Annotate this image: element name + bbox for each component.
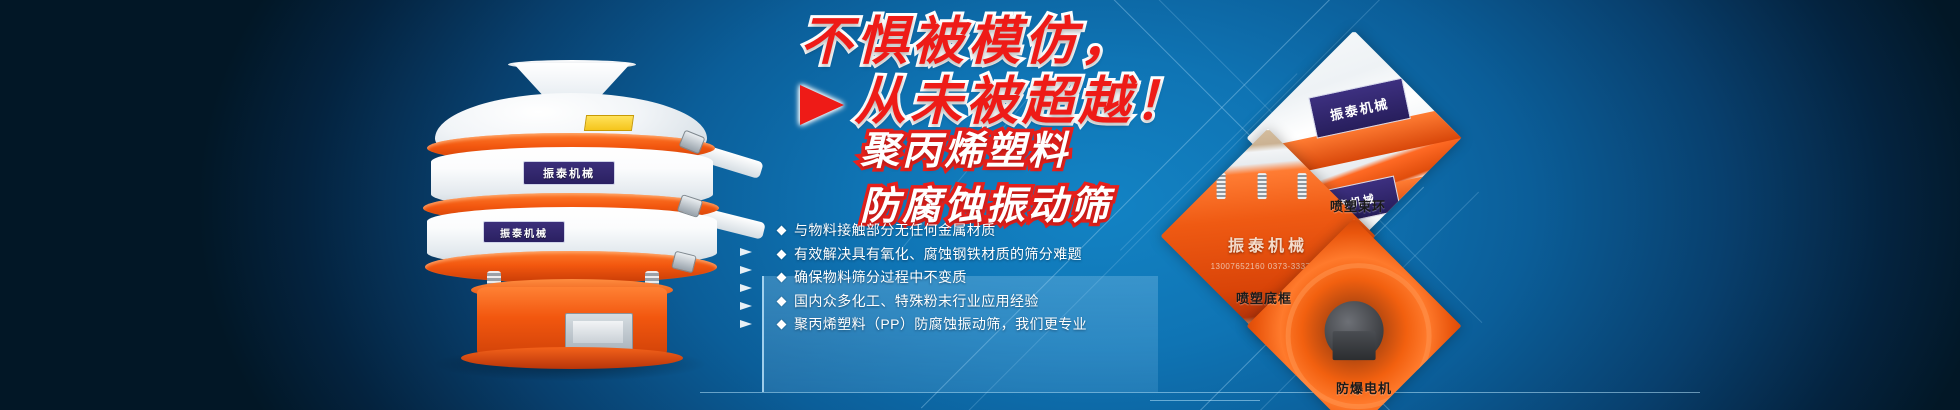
junction-box (1333, 330, 1376, 360)
diamond-bullet-icon (777, 249, 787, 259)
headline-row-1: 不惧被模仿， (800, 14, 1500, 70)
diamond-bullet-icon (777, 226, 787, 236)
feature-label: 国内众多化工、特殊粉末行业应用经验 (794, 293, 1039, 311)
feature-label: 有效解决具有氧化、腐蚀钢铁材质的筛分难题 (794, 246, 1082, 264)
decor-hline-left (1150, 400, 1260, 401)
spring-icon (1298, 172, 1307, 198)
subtitle-line-1: 聚丙烯塑料 (860, 124, 1112, 179)
product-brand-tag-lower: 振泰机械 (483, 221, 565, 243)
spring-icon (1257, 172, 1266, 198)
list-item: 有效解决具有氧化、腐蚀钢铁材质的筛分难题 (778, 246, 1198, 264)
headline-line-1: 不惧被模仿， (800, 14, 1136, 70)
headline-block: 不惧被模仿， 从未被超越！ (800, 14, 1500, 130)
photo-panel-label-motor: 防爆电机 (1336, 378, 1392, 397)
list-item: 与物料接触部分无任何金属材质 (778, 222, 1198, 240)
list-item: 国内众多化工、特殊粉末行业应用经验 (778, 293, 1198, 311)
product-image-main: 振泰机械 振泰机械 (395, 55, 745, 395)
feature-list: 与物料接触部分无任何金属材质 有效解决具有氧化、腐蚀钢铁材质的筛分难题 确保物料… (778, 222, 1198, 340)
subtitle-block: 聚丙烯塑料 防腐蚀振动筛 (860, 124, 1112, 235)
headline-line-2: 从未被超越！ (854, 74, 1190, 130)
feature-label: 确保物料筛分过程中不变质 (794, 269, 967, 287)
photo-panel-label-clamp-ring: 喷塑束环 (1330, 196, 1386, 215)
photo-panel-label-base-frame: 喷塑底框 (1236, 288, 1292, 307)
warning-label (584, 115, 634, 131)
list-item: 确保物料筛分过程中不变质 (778, 269, 1198, 287)
feature-label: 聚丙烯塑料（PP）防腐蚀振动筛，我们更专业 (794, 316, 1087, 334)
promo-banner: 振泰机械 振泰机械 不惧被模仿， 从未被超越！ (0, 0, 1960, 410)
diamond-bullet-icon (777, 320, 787, 330)
diamond-bullet-icon (777, 296, 787, 306)
list-item: 聚丙烯塑料（PP）防腐蚀振动筛，我们更专业 (778, 316, 1198, 334)
spring-icon (1217, 172, 1226, 198)
base-foot-ring (461, 347, 683, 369)
feature-label: 与物料接触部分无任何金属材质 (794, 222, 996, 240)
product-brand-tag-upper: 振泰机械 (523, 161, 615, 185)
nameplate (573, 321, 623, 343)
decor-hline-bottom (700, 392, 1700, 393)
headline-row-2: 从未被超越！ (800, 74, 1500, 130)
red-triangle-right-icon (800, 85, 844, 125)
diamond-bullet-icon (777, 273, 787, 283)
